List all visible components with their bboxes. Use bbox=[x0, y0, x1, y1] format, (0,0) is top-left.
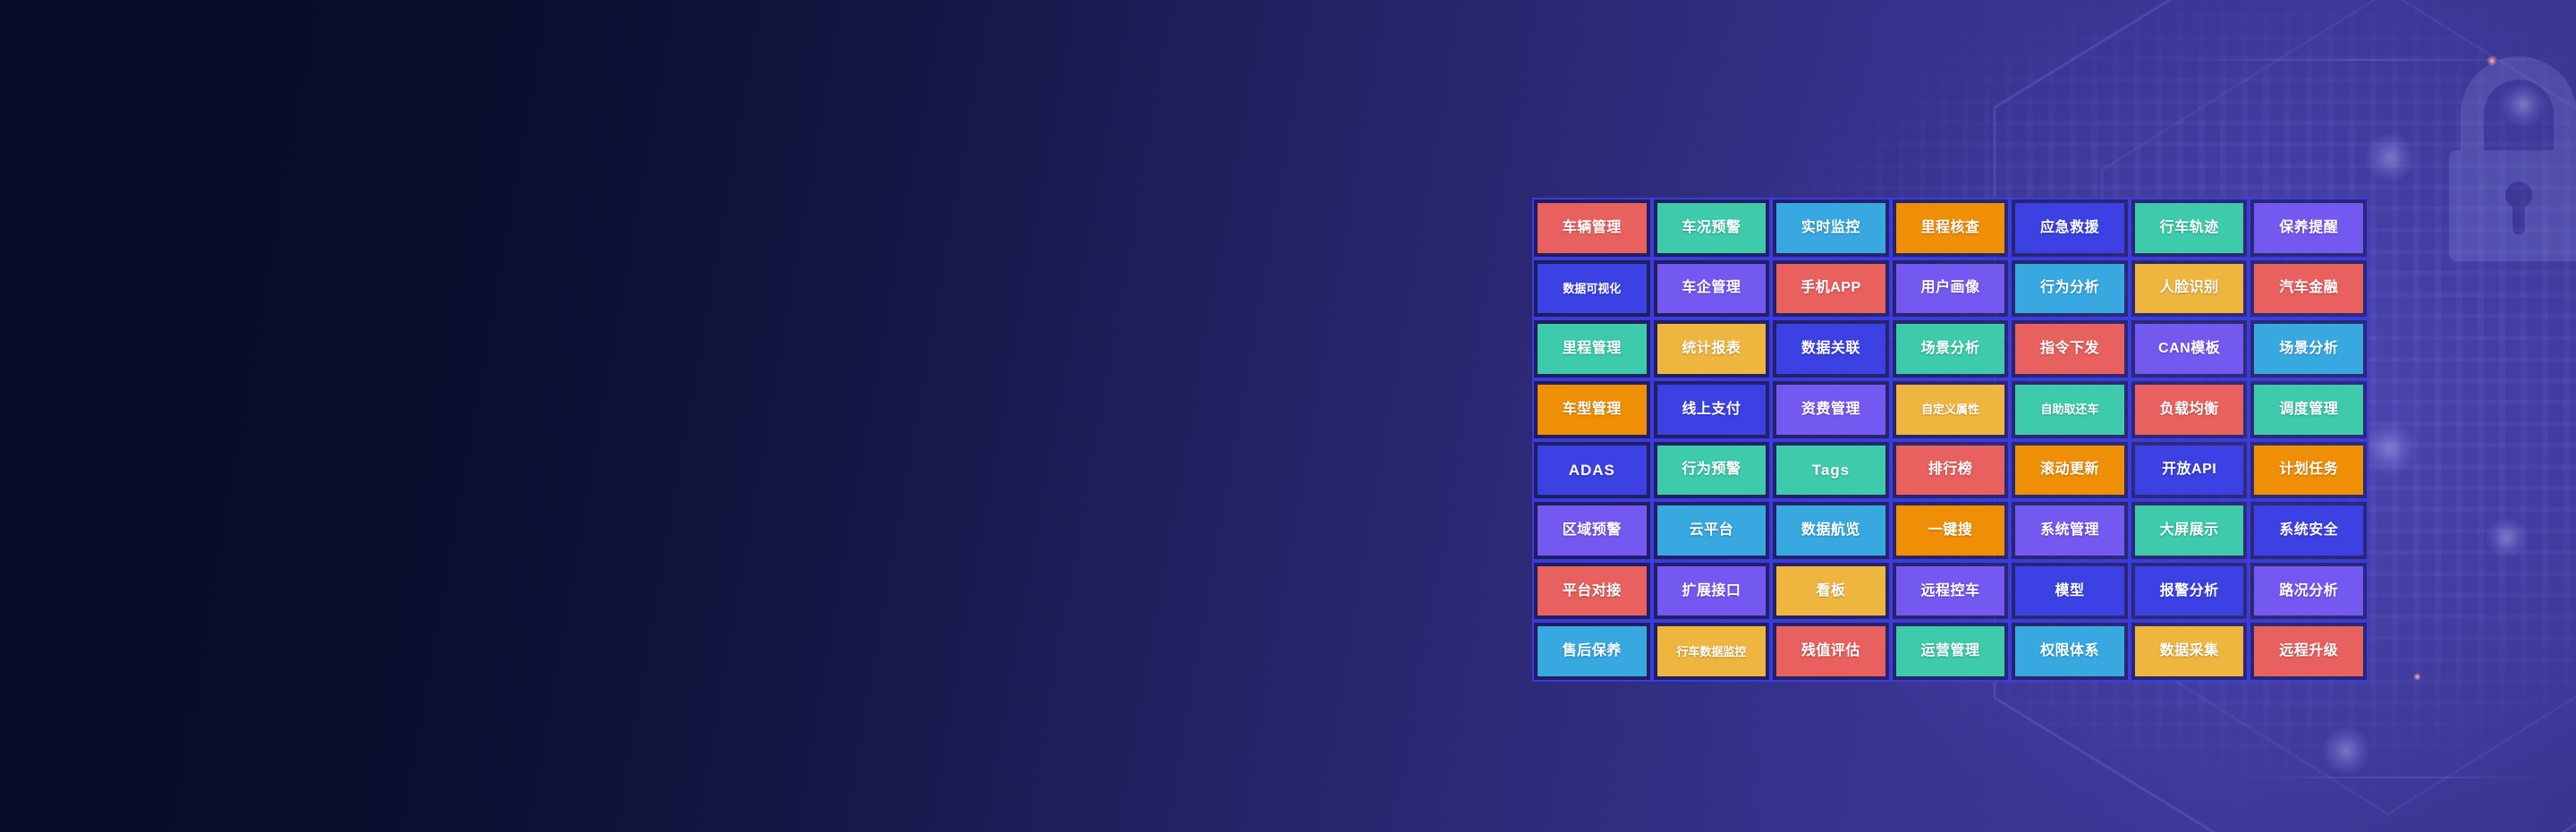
feature-tile[interactable]: 自助取还车 bbox=[2010, 379, 2130, 440]
feature-tile-label: 自助取还车 bbox=[2041, 403, 2099, 415]
feature-tile-fill: 里程管理 bbox=[1538, 324, 1647, 374]
feature-tile-label: 车况预警 bbox=[1682, 221, 1741, 235]
feature-tile-label: 滚动更新 bbox=[2040, 463, 2099, 477]
feature-tile-fill: 一键搜 bbox=[1896, 505, 2005, 556]
feature-tile-fill: 行车数据监控 bbox=[1657, 626, 1767, 676]
feature-tile-fill: 平台对接 bbox=[1538, 566, 1647, 616]
feature-tile-label: CAN模板 bbox=[2158, 342, 2220, 356]
feature-tile-label: 区域预警 bbox=[1563, 523, 1622, 538]
feature-tile-label: 运营管理 bbox=[1920, 644, 1979, 658]
feature-tile[interactable]: 路况分析 bbox=[2249, 561, 2368, 622]
feature-tile-label: 模型 bbox=[2055, 584, 2085, 599]
feature-tile-label: 人脸识别 bbox=[2160, 281, 2219, 295]
feature-tile-fill: 报警分析 bbox=[2135, 566, 2244, 616]
feature-tile-fill: CAN模板 bbox=[2135, 324, 2244, 374]
feature-tile-fill: 资费管理 bbox=[1776, 385, 1885, 435]
feature-tile-label: 系统安全 bbox=[2279, 523, 2338, 538]
feature-tile[interactable]: 自定义属性 bbox=[1891, 379, 2011, 440]
feature-tile[interactable]: 车况预警 bbox=[1652, 198, 1772, 259]
feature-tile[interactable]: 车企管理 bbox=[1652, 259, 1772, 319]
feature-tile[interactable]: 远程升级 bbox=[2249, 621, 2368, 682]
feature-tile-fill: 系统安全 bbox=[2254, 505, 2363, 556]
feature-tile-fill: 负载均衡 bbox=[2135, 385, 2244, 435]
light-streak bbox=[2236, 777, 2558, 778]
feature-tile[interactable]: Tags bbox=[1771, 440, 1891, 501]
feature-tile-fill: 里程核查 bbox=[1896, 203, 2005, 253]
feature-tile-label: 负载均衡 bbox=[2160, 403, 2219, 417]
feature-tile-fill: 实时监控 bbox=[1776, 203, 1885, 253]
feature-tile[interactable]: 里程核查 bbox=[1891, 198, 2011, 259]
feature-tile-label: 调度管理 bbox=[2279, 403, 2338, 417]
feature-tile[interactable]: 运营管理 bbox=[1891, 621, 2011, 682]
feature-tile-label: 数据航览 bbox=[1801, 523, 1860, 538]
feature-tile-fill: 车辆管理 bbox=[1538, 203, 1647, 253]
feature-tile[interactable]: 看板 bbox=[1771, 561, 1891, 622]
feature-tile[interactable]: 场景分析 bbox=[1891, 318, 2011, 379]
feature-tile-fill: 数据航览 bbox=[1776, 505, 1885, 556]
feature-tile-label: 大屏展示 bbox=[2160, 523, 2219, 538]
feature-tile-label: 残值评估 bbox=[1801, 644, 1860, 658]
feature-tile-label: 数据采集 bbox=[2160, 644, 2219, 658]
feature-tile-fill: 扩展接口 bbox=[1657, 566, 1767, 616]
feature-tile-label: 看板 bbox=[1816, 584, 1845, 599]
feature-tile[interactable]: 残值评估 bbox=[1771, 621, 1891, 682]
feature-tile-label: 远程升级 bbox=[2279, 644, 2338, 658]
feature-tile[interactable]: 排行榜 bbox=[1891, 440, 2011, 501]
feature-tile[interactable]: 汽车金融 bbox=[2249, 259, 2368, 319]
feature-tile[interactable]: 应急救援 bbox=[2010, 198, 2130, 259]
feature-tile-fill: 行车轨迹 bbox=[2135, 203, 2244, 253]
feature-tile-fill: 汽车金融 bbox=[2254, 264, 2363, 314]
feature-tile[interactable]: 数据关联 bbox=[1771, 318, 1891, 379]
feature-tile[interactable]: 扩展接口 bbox=[1652, 561, 1772, 622]
feature-tile-label: 指令下发 bbox=[2040, 342, 2099, 356]
feature-tile-label: Tags bbox=[1812, 463, 1850, 478]
feature-tile-label: 里程核查 bbox=[1920, 221, 1979, 235]
feature-tile-fill: 云平台 bbox=[1657, 505, 1767, 556]
feature-tile-fill: 计划任务 bbox=[2254, 446, 2363, 496]
feature-tile[interactable]: 资费管理 bbox=[1771, 379, 1891, 440]
feature-tile[interactable]: 系统安全 bbox=[2249, 500, 2368, 561]
feature-tile-fill: 应急救援 bbox=[2015, 203, 2124, 253]
feature-tile-label: ADAS bbox=[1569, 463, 1615, 478]
feature-tile-fill: Tags bbox=[1776, 446, 1885, 496]
feature-tile[interactable]: 区域预警 bbox=[1532, 500, 1652, 561]
feature-tile-label: 车辆管理 bbox=[1563, 221, 1622, 235]
feature-tile[interactable]: 保养提醒 bbox=[2249, 198, 2368, 259]
feature-tile[interactable]: 场景分析 bbox=[2249, 318, 2368, 379]
feature-tile[interactable]: 实时监控 bbox=[1771, 198, 1891, 259]
feature-tile-label: 汽车金融 bbox=[2279, 281, 2338, 295]
feature-tile-label: 云平台 bbox=[1690, 523, 1734, 538]
feature-tile-label: 行为预警 bbox=[1682, 463, 1741, 477]
feature-tile[interactable]: 手机APP bbox=[1771, 259, 1891, 319]
feature-tile[interactable]: 数据可视化 bbox=[1532, 259, 1652, 319]
feature-tile-fill: 路况分析 bbox=[2254, 566, 2363, 616]
feature-tile-fill: 大屏展示 bbox=[2135, 505, 2244, 556]
feature-tile[interactable]: 数据采集 bbox=[2130, 621, 2250, 682]
feature-tile[interactable]: 开放API bbox=[2130, 440, 2250, 501]
feature-tile-label: 计划任务 bbox=[2279, 463, 2338, 477]
feature-tile-label: 自定义属性 bbox=[1921, 403, 1979, 415]
feature-tile-label: 开放API bbox=[2162, 463, 2216, 477]
feature-tile[interactable]: 线上支付 bbox=[1652, 379, 1772, 440]
feature-tile[interactable]: CAN模板 bbox=[2130, 318, 2250, 379]
glow-node bbox=[2365, 132, 2415, 183]
feature-tile[interactable]: 一键搜 bbox=[1891, 500, 2011, 561]
feature-tile-label: 平台对接 bbox=[1563, 584, 1622, 599]
feature-tile[interactable]: 数据航览 bbox=[1771, 500, 1891, 561]
feature-tile-label: 场景分析 bbox=[2279, 342, 2338, 356]
feature-tile-label: 一键搜 bbox=[1928, 523, 1973, 538]
feature-tile-label: 车型管理 bbox=[1563, 403, 1622, 417]
feature-tile-label: 统计报表 bbox=[1682, 342, 1741, 356]
feature-tile-fill: 调度管理 bbox=[2254, 385, 2363, 435]
feature-tile-fill: 数据关联 bbox=[1776, 324, 1885, 374]
feature-tile-label: 手机APP bbox=[1801, 281, 1860, 295]
feature-tile-label: 系统管理 bbox=[2040, 523, 2099, 538]
spark-node bbox=[2487, 55, 2497, 66]
feature-tile[interactable]: 大屏展示 bbox=[2130, 500, 2250, 561]
feature-tile-fill: 自助取还车 bbox=[2015, 385, 2124, 435]
feature-tile[interactable]: 调度管理 bbox=[2249, 379, 2368, 440]
glow-node bbox=[2361, 420, 2417, 476]
feature-tile[interactable]: 报警分析 bbox=[2130, 561, 2250, 622]
feature-tile-fill: 指令下发 bbox=[2015, 324, 2124, 374]
feature-tile[interactable]: 人脸识别 bbox=[2130, 259, 2250, 319]
feature-tile[interactable]: 里程管理 bbox=[1532, 318, 1652, 379]
feature-tile-label: 数据可视化 bbox=[1563, 283, 1621, 294]
glow-node bbox=[2501, 82, 2546, 127]
feature-tile-label: 用户画像 bbox=[1920, 281, 1979, 295]
feature-tile[interactable]: 用户画像 bbox=[1891, 259, 2011, 319]
feature-tile-fill: 排行榜 bbox=[1896, 446, 2005, 496]
light-streak bbox=[2173, 59, 2549, 61]
feature-tile-label: 远程控车 bbox=[1920, 584, 1979, 599]
feature-tile[interactable]: 滚动更新 bbox=[2010, 440, 2130, 501]
feature-tile-label: 线上支付 bbox=[1682, 403, 1741, 417]
feature-tile-label: 资费管理 bbox=[1801, 403, 1860, 417]
feature-tile[interactable]: 云平台 bbox=[1652, 500, 1772, 561]
feature-tile-fill: 看板 bbox=[1776, 566, 1885, 616]
feature-tile-fill: 人脸识别 bbox=[2135, 264, 2244, 314]
feature-tile-fill: 统计报表 bbox=[1657, 324, 1767, 374]
feature-tile-fill: 权限体系 bbox=[2015, 626, 2124, 676]
feature-tile-fill: 数据采集 bbox=[2135, 626, 2244, 676]
feature-tile-label: 行车轨迹 bbox=[2160, 221, 2219, 235]
feature-tile-fill: 运营管理 bbox=[1896, 626, 2005, 676]
feature-tile[interactable]: 行车轨迹 bbox=[2130, 198, 2250, 259]
feature-tile-fill: 模型 bbox=[2015, 566, 2124, 616]
feature-tile-fill: 数据可视化 bbox=[1538, 264, 1647, 314]
feature-tile[interactable]: 行为预警 bbox=[1652, 440, 1772, 501]
feature-tile-fill: 保养提醒 bbox=[2254, 203, 2363, 253]
feature-tile-label: 应急救援 bbox=[2040, 221, 2099, 235]
glow-node bbox=[2322, 726, 2370, 775]
page-canvas: 车辆管理车况预警实时监控里程核查应急救援行车轨迹保养提醒数据可视化车企管理手机A… bbox=[0, 0, 2576, 832]
feature-tile-fill: 场景分析 bbox=[1896, 324, 2005, 374]
feature-tile-fill: ADAS bbox=[1538, 446, 1647, 496]
padlock-icon bbox=[2420, 45, 2576, 277]
feature-tile-label: 行为分析 bbox=[2040, 281, 2099, 295]
feature-tile-fill: 售后保养 bbox=[1538, 626, 1647, 676]
feature-tile-label: 实时监控 bbox=[1801, 221, 1860, 235]
feature-tile-fill: 用户画像 bbox=[1896, 264, 2005, 314]
feature-tile-fill: 场景分析 bbox=[2254, 324, 2363, 374]
feature-tile-fill: 车况预警 bbox=[1657, 203, 1767, 253]
feature-tile[interactable]: 售后保养 bbox=[1532, 621, 1652, 682]
feature-tile[interactable]: 负载均衡 bbox=[2130, 379, 2250, 440]
feature-tile-label: 售后保养 bbox=[1563, 644, 1622, 658]
feature-tile[interactable]: 模型 bbox=[2010, 561, 2130, 622]
feature-tile[interactable]: 权限体系 bbox=[2010, 621, 2130, 682]
feature-tile-fill: 自定义属性 bbox=[1896, 385, 2005, 435]
feature-tile-label: 车企管理 bbox=[1682, 281, 1741, 295]
feature-tile-fill: 行为预警 bbox=[1657, 446, 1767, 496]
feature-tile-label: 路况分析 bbox=[2279, 584, 2338, 599]
feature-tile-fill: 残值评估 bbox=[1776, 626, 1885, 676]
feature-tile[interactable]: 远程控车 bbox=[1891, 561, 2011, 622]
feature-tile-fill: 行为分析 bbox=[2015, 264, 2124, 314]
feature-tile[interactable]: 统计报表 bbox=[1652, 318, 1772, 379]
feature-tile-fill: 远程控车 bbox=[1896, 566, 2005, 616]
feature-tile[interactable]: 系统管理 bbox=[2010, 500, 2130, 561]
feature-tile-fill: 开放API bbox=[2135, 446, 2244, 496]
feature-tile-fill: 远程升级 bbox=[2254, 626, 2363, 676]
feature-tile-fill: 滚动更新 bbox=[2015, 446, 2124, 496]
feature-tile-fill: 手机APP bbox=[1776, 264, 1885, 314]
feature-tile[interactable]: 车辆管理 bbox=[1532, 198, 1652, 259]
feature-tile-label: 排行榜 bbox=[1928, 463, 1973, 477]
feature-tile[interactable]: 计划任务 bbox=[2249, 440, 2368, 501]
feature-tile-label: 扩展接口 bbox=[1682, 584, 1741, 599]
feature-tile-fill: 系统管理 bbox=[2015, 505, 2124, 556]
feature-tile-label: 场景分析 bbox=[1920, 342, 1979, 356]
feature-tile-fill: 线上支付 bbox=[1657, 385, 1767, 435]
feature-tile[interactable]: 指令下发 bbox=[2010, 318, 2130, 379]
feature-tile-grid: 车辆管理车况预警实时监控里程核查应急救援行车轨迹保养提醒数据可视化车企管理手机A… bbox=[1532, 198, 2368, 682]
feature-tile-fill: 车型管理 bbox=[1538, 385, 1647, 435]
glow-node bbox=[2487, 517, 2528, 558]
spark-node bbox=[2413, 673, 2421, 681]
feature-tile-label: 权限体系 bbox=[2040, 644, 2099, 658]
feature-tile-label: 保养提醒 bbox=[2279, 221, 2338, 235]
feature-tile-fill: 车企管理 bbox=[1657, 264, 1767, 314]
feature-tile-label: 行车数据监控 bbox=[1676, 646, 1746, 658]
feature-tile[interactable]: 行车数据监控 bbox=[1652, 621, 1772, 682]
feature-tile-label: 报警分析 bbox=[2160, 584, 2219, 599]
feature-tile-fill: 区域预警 bbox=[1538, 505, 1647, 556]
feature-tile[interactable]: 平台对接 bbox=[1532, 561, 1652, 622]
feature-tile[interactable]: ADAS bbox=[1532, 440, 1652, 501]
feature-tile[interactable]: 车型管理 bbox=[1532, 379, 1652, 440]
feature-tile-label: 数据关联 bbox=[1801, 342, 1860, 356]
feature-tile[interactable]: 行为分析 bbox=[2010, 259, 2130, 319]
feature-tile-label: 里程管理 bbox=[1563, 342, 1622, 356]
